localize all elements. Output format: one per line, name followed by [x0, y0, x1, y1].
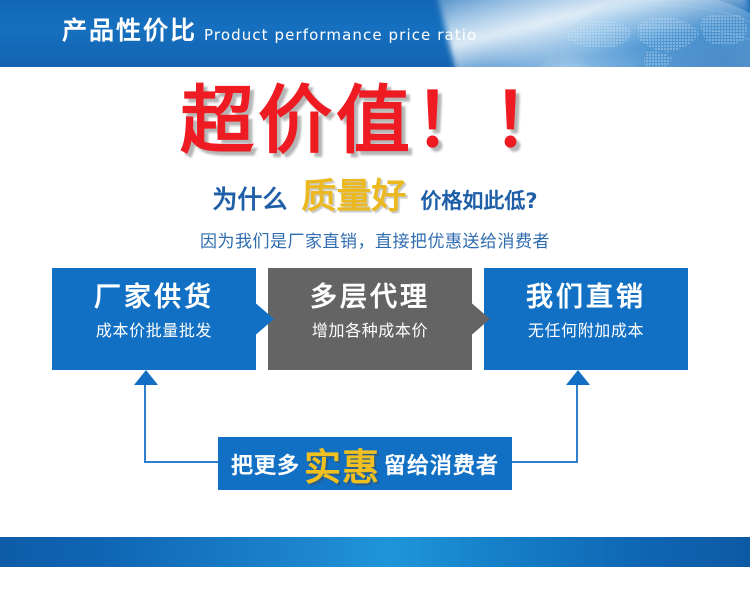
flow-step-2-title: 多层代理: [268, 283, 472, 313]
footer-bar: [0, 537, 750, 567]
header-title-chinese: 产品性价比: [62, 18, 197, 43]
header-title-english: Product performance price ratio: [204, 26, 477, 44]
bottom-slogan-banner: 把更多实惠留给消费者: [218, 437, 512, 490]
arrow-up-icon: [134, 370, 158, 385]
banner-prefix: 把更多: [231, 448, 300, 480]
flow-step-3: 我们直销 无任何附加成本: [484, 268, 688, 370]
flow-step-3-title: 我们直销: [484, 283, 688, 313]
globe-world-map-icon: [550, 0, 750, 67]
flow-step-1-title: 厂家供货: [52, 283, 256, 313]
connector-line-left-horizontal: [144, 461, 228, 463]
question-line: 为什么质量好价格如此低?: [0, 180, 750, 215]
header-banner: 产品性价比 Product performance price ratio: [0, 0, 750, 67]
arrow-up-icon: [566, 370, 590, 385]
question-highlight: 质量好: [301, 177, 406, 217]
promo-page: 产品性价比 Product performance price ratio 超价…: [0, 0, 750, 590]
sub-description: 因为我们是厂家直销，直接把优惠送给消费者: [0, 227, 750, 252]
question-suffix: 价格如此低?: [420, 189, 537, 213]
flow-step-1-subtitle: 成本价批量批发: [52, 322, 256, 340]
connector-line-left-vertical: [144, 385, 146, 463]
connector-line-right-vertical: [576, 385, 578, 463]
main-headline: 超价值！！: [0, 84, 750, 158]
flow-step-1: 厂家供货 成本价批量批发: [52, 268, 256, 370]
flow-step-2: 多层代理 增加各种成本价: [268, 268, 472, 370]
banner-suffix: 留给消费者: [384, 448, 499, 480]
banner-highlight: 实惠: [304, 437, 380, 491]
flow-step-3-subtitle: 无任何附加成本: [484, 322, 688, 340]
chevron-right-icon: [252, 300, 274, 338]
flow-step-2-subtitle: 增加各种成本价: [268, 322, 472, 340]
connector-line-right-horizontal: [502, 461, 578, 463]
question-prefix: 为什么: [212, 185, 287, 214]
chevron-right-icon: [468, 300, 490, 338]
